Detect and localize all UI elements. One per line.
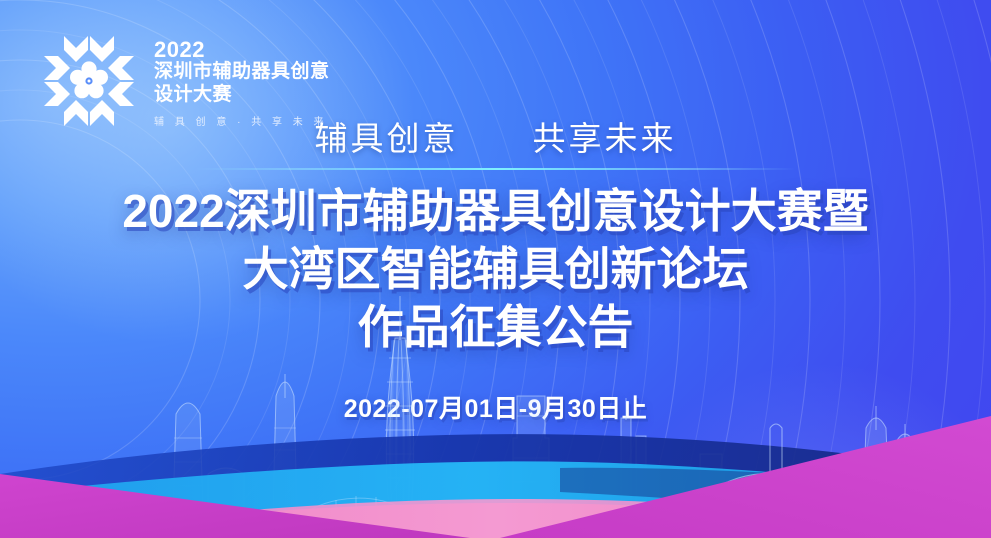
- title-line-1: 2022深圳市辅助器具创意设计大赛暨: [0, 182, 991, 240]
- promo-banner: 2022 深圳市辅助器具创意 设计大赛 辅 具 创 意 · 共 享 未 来 辅具…: [0, 0, 991, 538]
- logo-name-line1: 深圳市辅助器具创意: [154, 61, 330, 83]
- slogan-left: 辅具创意: [315, 112, 459, 160]
- logo-year: 2022: [154, 38, 330, 61]
- title-line-3: 作品征集公告: [0, 298, 991, 356]
- submission-period: 2022-07月01日-9月30日止: [0, 389, 991, 425]
- page-title: 2022深圳市辅助器具创意设计大赛暨 大湾区智能辅具创新论坛 作品征集公告: [0, 182, 991, 356]
- slogan-right: 共享未来: [533, 112, 677, 160]
- cyan-divider: [196, 168, 796, 170]
- headline-slogan: 辅具创意 共享未来: [0, 112, 991, 160]
- logo-name-line2: 设计大赛: [154, 84, 330, 106]
- title-line-2: 大湾区智能辅具创新论坛: [0, 240, 991, 298]
